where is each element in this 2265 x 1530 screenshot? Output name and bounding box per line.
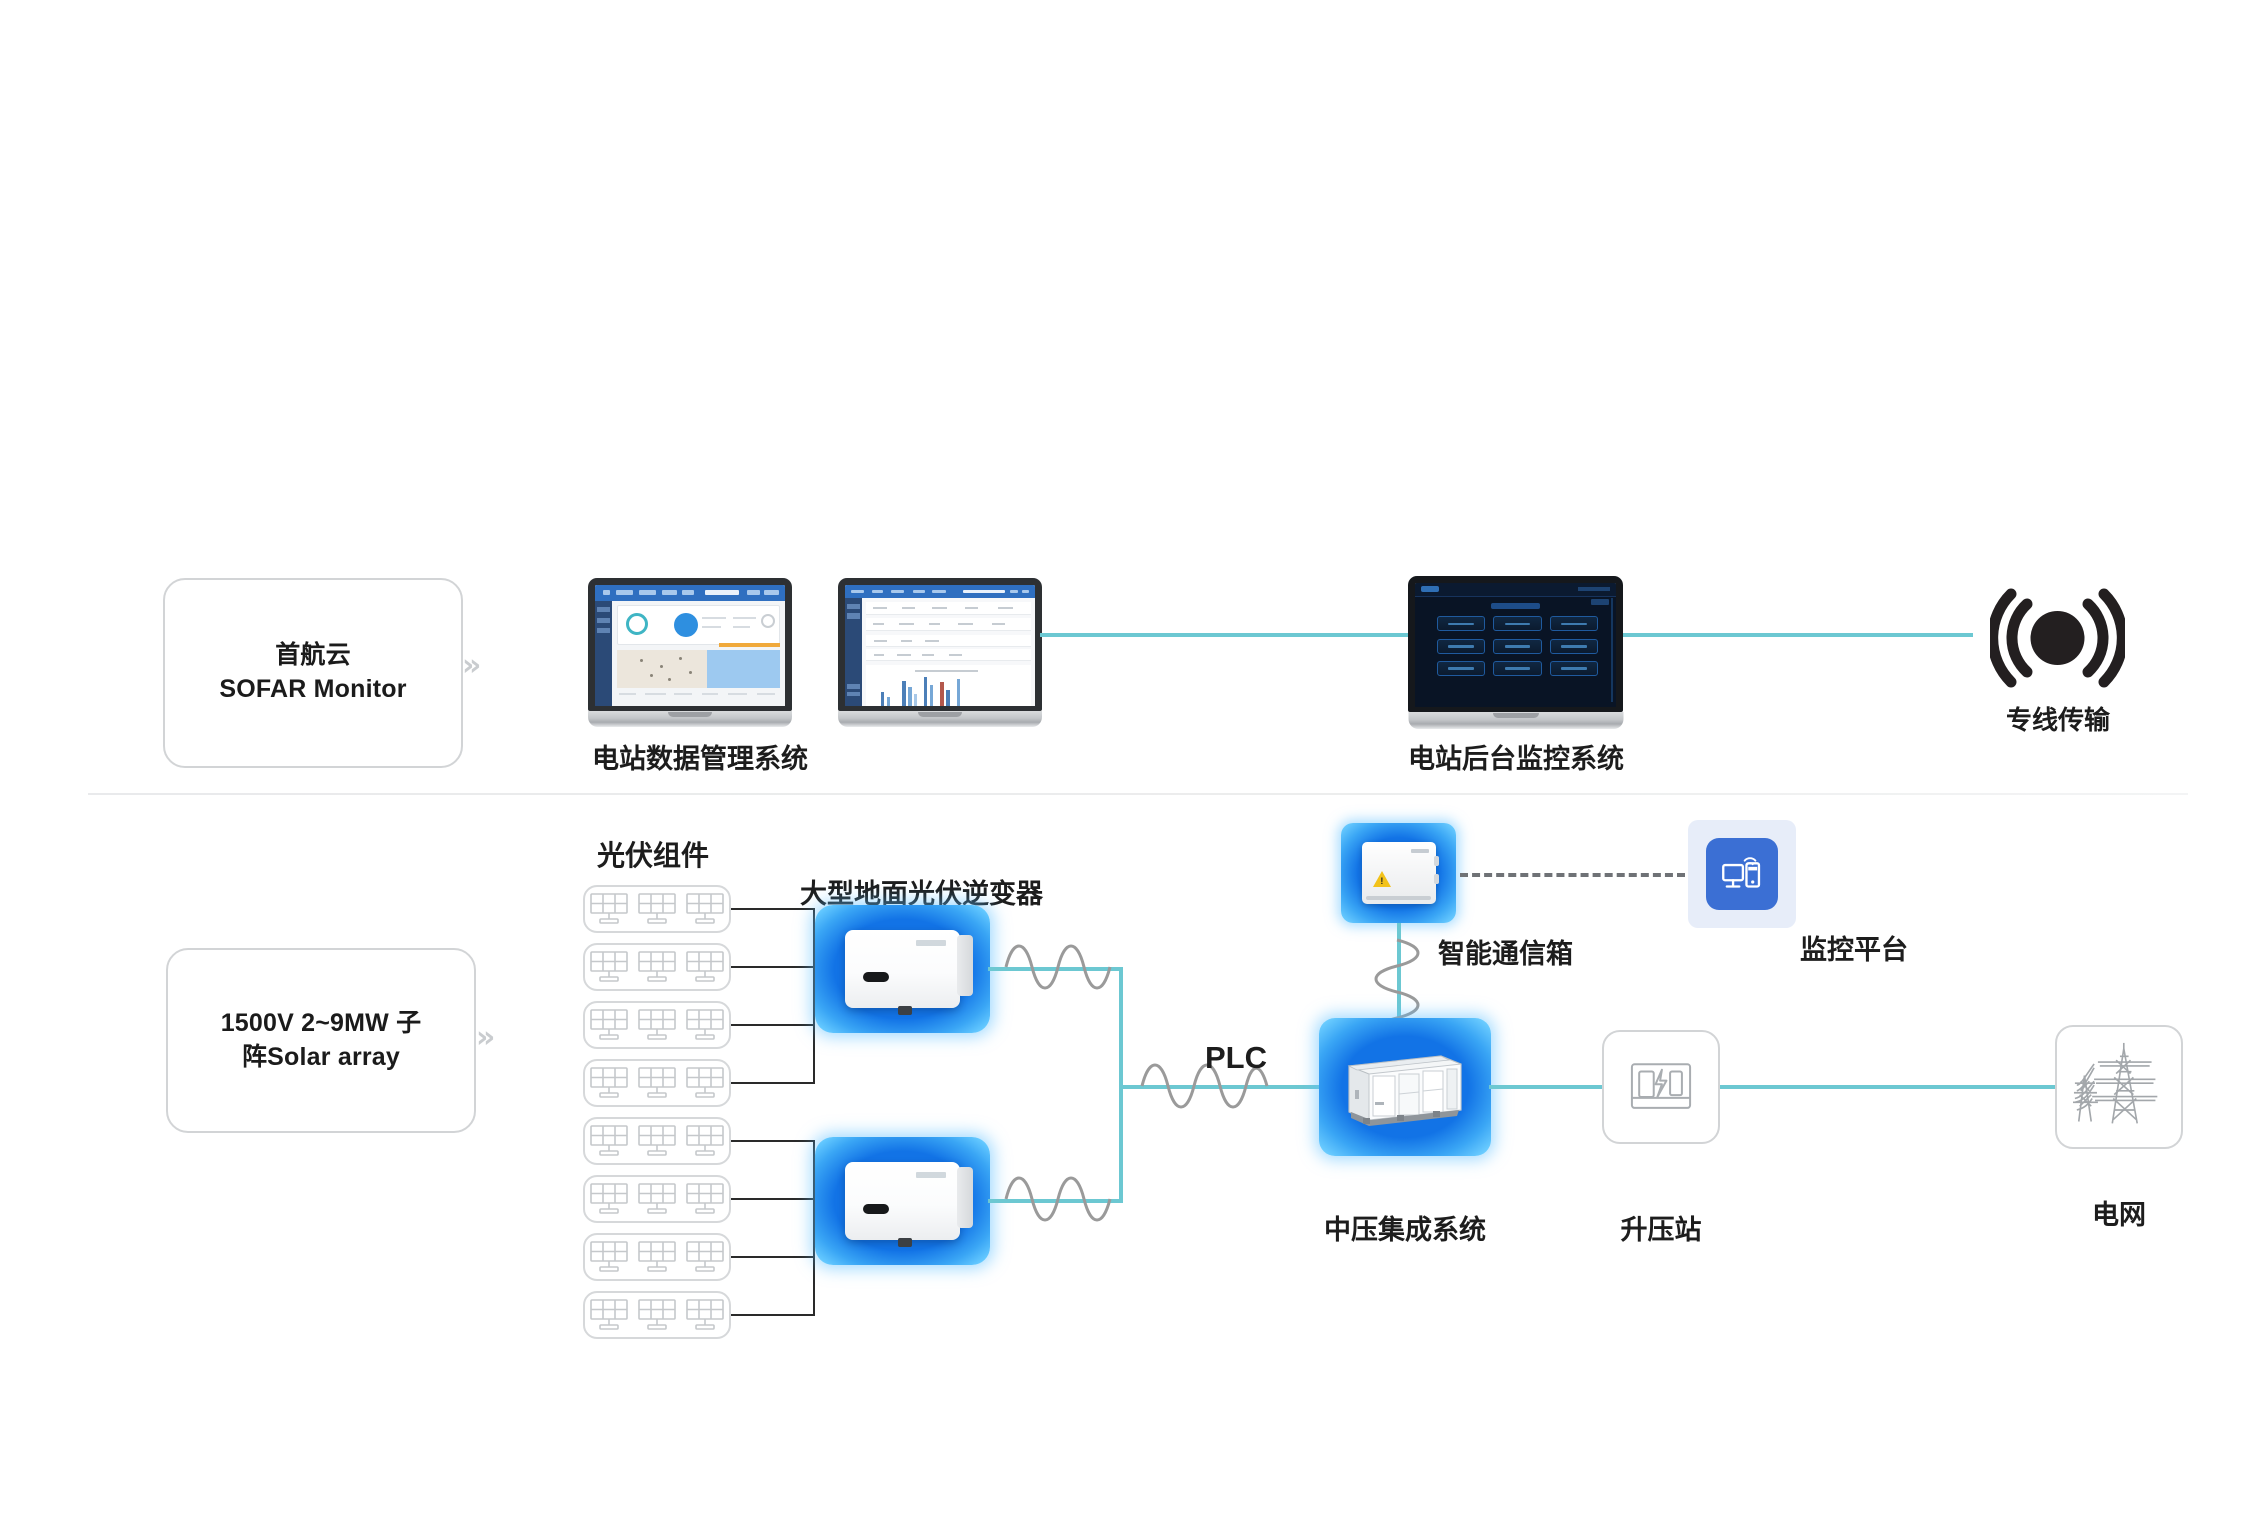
link-commbox-to-platform bbox=[1460, 873, 1685, 877]
link-backend-to-transmission bbox=[1623, 633, 1973, 637]
caption-booster-station: 升压站 bbox=[1541, 1208, 1781, 1247]
caption-smart-communication-box: 智能通信箱 bbox=[1438, 932, 1573, 971]
inverter-logo bbox=[916, 940, 946, 945]
caption-data-management-system: 电站数据管理系统 bbox=[585, 737, 815, 776]
pv-bracket-stub bbox=[731, 1082, 815, 1084]
link-booster-to-grid bbox=[1720, 1085, 2060, 1089]
solar-panel-icon bbox=[634, 1121, 680, 1161]
comm-box-device-image bbox=[1362, 842, 1436, 904]
solar-panel-icon bbox=[634, 1295, 680, 1335]
backend-monitor-screen bbox=[1415, 583, 1616, 707]
inverter-logo bbox=[916, 1172, 946, 1177]
solar-panel-icon bbox=[586, 947, 632, 987]
pv-group-box bbox=[583, 1059, 731, 1107]
pv-bracket-stub bbox=[731, 1140, 815, 1142]
inverter-tile-2 bbox=[815, 1137, 990, 1265]
pv-group-box bbox=[583, 885, 731, 933]
caption-monitoring-platform: 监控平台 bbox=[1800, 928, 1908, 967]
monitoring-platform-card bbox=[1688, 820, 1796, 928]
substation-icon bbox=[1624, 1057, 1698, 1117]
inverter-foot bbox=[898, 1238, 912, 1247]
solar-panel-icon bbox=[586, 889, 632, 929]
solar-array-line1: 1500V 2~9MW 子 bbox=[221, 1009, 422, 1037]
sofar-monitor-label-card: 首航云 SOFAR Monitor bbox=[163, 578, 463, 768]
dashboard-table-screen bbox=[845, 585, 1035, 706]
solar-panel-icon bbox=[634, 1063, 680, 1103]
diagram-canvas: 首航云 SOFAR Monitor » bbox=[0, 0, 2265, 1530]
monitor-wifi-icon bbox=[1706, 838, 1778, 910]
laptop-data-management-1 bbox=[588, 578, 792, 730]
solar-panel-icon bbox=[634, 889, 680, 929]
grid-card bbox=[2055, 1025, 2183, 1149]
smart-comm-box-tile bbox=[1341, 823, 1456, 923]
pv-bracket-stub bbox=[731, 1256, 815, 1258]
solar-panel-icon bbox=[634, 947, 680, 987]
solar-panel-icon bbox=[682, 1063, 728, 1103]
sine-wave-icon bbox=[1004, 941, 1116, 993]
sofar-label-line2: SOFAR Monitor bbox=[219, 675, 406, 703]
solar-panel-icon bbox=[634, 1237, 680, 1277]
inverter-foot bbox=[898, 1006, 912, 1015]
caption-mv-integrated-system: 中压集成系统 bbox=[1255, 1208, 1555, 1247]
mv-container-image bbox=[1341, 1044, 1469, 1130]
solar-panel-icon bbox=[586, 1063, 632, 1103]
solar-panel-icon bbox=[682, 1179, 728, 1219]
warning-triangle-icon bbox=[1373, 871, 1391, 887]
inverter-device-image bbox=[845, 930, 960, 1008]
inverter-tile-1 bbox=[815, 905, 990, 1033]
solar-panel-icon bbox=[682, 1295, 728, 1335]
pv-group-box bbox=[583, 1175, 731, 1223]
dashboard-map-screen bbox=[595, 585, 785, 706]
solar-array-label-card: 1500V 2~9MW 子 阵Solar array bbox=[166, 948, 476, 1133]
solar-panel-icon bbox=[586, 1121, 632, 1161]
solar-panel-icon bbox=[682, 1237, 728, 1277]
pv-group-box bbox=[583, 1291, 731, 1339]
caption-backend-monitoring-system: 电站后台监控系统 bbox=[1401, 737, 1631, 776]
sofar-chevron-icon: » bbox=[462, 648, 481, 683]
pv-group-box bbox=[583, 1233, 731, 1281]
inverter-device-image bbox=[845, 1162, 960, 1240]
caption-dedicated-line-transmission: 专线传输 bbox=[1958, 700, 2158, 737]
solar-panel-icon bbox=[586, 1005, 632, 1045]
solar-panel-icon bbox=[634, 1179, 680, 1219]
inverter-handle bbox=[863, 1204, 888, 1214]
link-laptops-to-backend bbox=[1040, 633, 1410, 637]
laptop-backend-monitoring bbox=[1408, 576, 1623, 732]
solar-panel-icon bbox=[634, 1005, 680, 1045]
mv-integrated-system-tile bbox=[1319, 1018, 1491, 1156]
pv-group-box bbox=[583, 1117, 731, 1165]
pv-bracket-stub bbox=[731, 1024, 815, 1026]
pv-bracket-stub bbox=[731, 966, 815, 968]
booster-station-card bbox=[1602, 1030, 1720, 1144]
inverter-handle bbox=[863, 972, 888, 982]
caption-power-grid: 电网 bbox=[2019, 1193, 2219, 1232]
solar-panel-icon bbox=[586, 1295, 632, 1335]
pylon-icon bbox=[2071, 1041, 2167, 1133]
pv-group-box bbox=[583, 943, 731, 991]
solar-array-line2: 阵Solar array bbox=[242, 1043, 400, 1071]
solar-panel-icon bbox=[586, 1237, 632, 1277]
pv-group-box bbox=[583, 1001, 731, 1049]
sine-wave-icon bbox=[1004, 1173, 1116, 1225]
link-mv-to-booster bbox=[1489, 1085, 1616, 1089]
solar-panel-icon bbox=[682, 947, 728, 987]
laptop-data-management-2 bbox=[838, 578, 1042, 730]
plc-label: PLC bbox=[1205, 1040, 1267, 1076]
solar-panel-icon bbox=[682, 1121, 728, 1161]
solar-array-chevron-icon: » bbox=[476, 1020, 495, 1055]
pv-bracket-stub bbox=[731, 1314, 815, 1316]
section-divider bbox=[88, 793, 2188, 795]
pv-bracket-stub bbox=[731, 1198, 815, 1200]
caption-pv-modules: 光伏组件 bbox=[597, 834, 709, 874]
solar-panel-icon bbox=[682, 1005, 728, 1045]
broadcast-icon bbox=[1990, 586, 2125, 691]
solar-panel-icon bbox=[682, 889, 728, 929]
solar-panel-icon bbox=[586, 1179, 632, 1219]
sofar-label-line1: 首航云 bbox=[275, 641, 351, 669]
